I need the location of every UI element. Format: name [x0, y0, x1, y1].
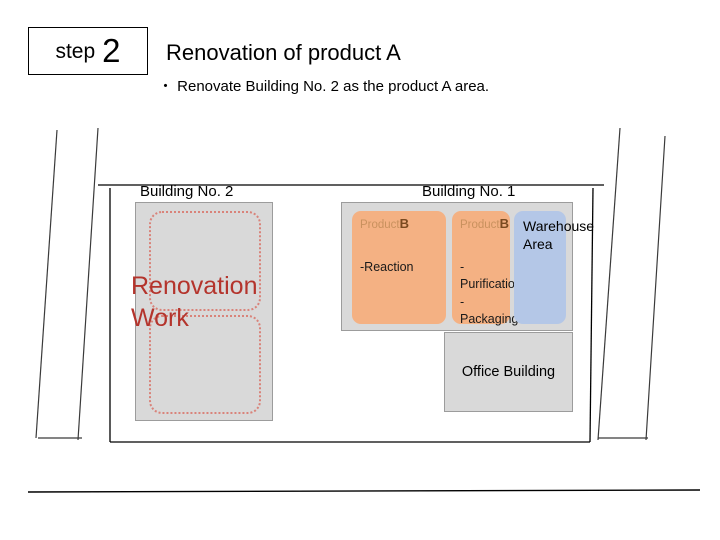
product-letter-label: B	[500, 216, 509, 231]
product-word-label: Product	[460, 219, 500, 231]
product-letter-label: B	[400, 216, 409, 231]
page-title: Renovation of product A	[166, 40, 401, 66]
road-right-outer-line	[646, 136, 665, 440]
office-building-label: Office Building	[462, 364, 555, 380]
road-left-inner-line	[78, 128, 98, 440]
building-no-1-box[interactable]: ProductB -Reaction ProductB -Purificatio…	[341, 202, 573, 331]
building-no-1-label: Building No. 1	[422, 183, 515, 200]
office-building-box[interactable]: Office Building	[444, 332, 573, 412]
page-subtitle-bullet: ・ Renovate Building No. 2 as the product…	[158, 75, 489, 96]
step-badge-number: 2	[102, 34, 120, 67]
product-word-label: Product	[360, 219, 400, 231]
slide-canvas: step 2 Renovation of product A ・ Renovat…	[0, 0, 720, 540]
area-product-b-reaction[interactable]: ProductB -Reaction	[352, 211, 446, 324]
building-no-2-label: Building No. 2	[140, 183, 233, 200]
road-right-inner-line	[598, 128, 620, 440]
area-header-product-b: ProductB	[360, 217, 409, 232]
step-badge: step 2	[28, 27, 148, 75]
area-process-list: -Reaction	[360, 259, 414, 276]
road-left-outer-line	[36, 130, 57, 438]
area-header-product-b: ProductB	[460, 217, 509, 232]
road-bottom-edge	[28, 490, 700, 492]
renovation-work-label: Renovation Work	[131, 270, 331, 334]
warehouse-area-label: Warehouse Area	[523, 218, 609, 254]
area-process-list: -Purification -Packaging	[460, 259, 522, 328]
step-badge-word: step	[55, 41, 95, 62]
area-product-b-purification[interactable]: ProductB -Purification -Packaging	[452, 211, 510, 324]
area-warehouse[interactable]: Warehouse Area	[514, 211, 566, 324]
